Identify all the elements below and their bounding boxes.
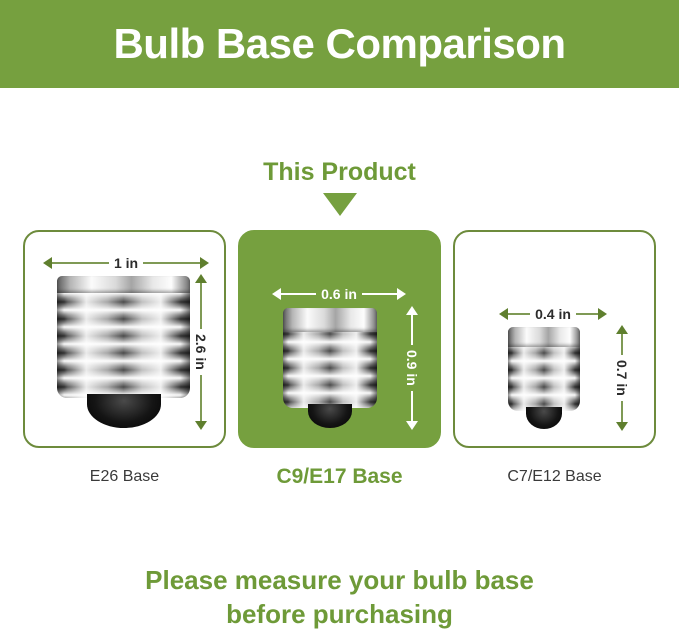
caption-e26: E26 Base — [23, 465, 226, 497]
dimension-line — [411, 391, 413, 421]
arrow-right-icon — [200, 257, 209, 269]
page-title: Bulb Base Comparison — [113, 23, 565, 65]
width-dimension-c7-e12: 0.4 in — [499, 305, 607, 323]
dimension-line — [508, 313, 530, 315]
arrow-right-icon — [397, 288, 406, 300]
dimension-line — [52, 262, 109, 264]
dimension-line — [200, 283, 202, 329]
width-dimension-e26: 1 in — [43, 254, 209, 272]
height-dimension-e26: 2.6 in — [192, 274, 210, 430]
height-dimension-c9-e17: 0.9 in — [403, 306, 421, 430]
bulb-card-c7-e12[interactable]: 0.4 in 0.7 in — [453, 230, 656, 448]
dimension-line — [621, 401, 623, 422]
header-banner: Bulb Base Comparison — [0, 0, 679, 88]
dimension-line — [621, 334, 623, 355]
width-label: 0.4 in — [530, 307, 576, 321]
bulb-base-e26-icon — [57, 276, 190, 426]
triangle-down-icon — [323, 193, 357, 216]
bulb-card-c9-e17[interactable]: 0.6 in 0.9 in — [238, 230, 441, 448]
arrow-down-icon — [195, 421, 207, 430]
footer-note: Please measure your bulb base before pur… — [0, 563, 679, 631]
dimension-line — [281, 293, 316, 295]
arrow-left-icon — [272, 288, 281, 300]
arrow-right-icon — [598, 308, 607, 320]
width-label: 0.6 in — [316, 287, 362, 301]
dimension-line — [200, 375, 202, 421]
arrow-up-icon — [406, 306, 418, 315]
arrow-up-icon — [616, 325, 628, 334]
height-label: 0.9 in — [405, 345, 419, 391]
width-label: 1 in — [109, 256, 143, 270]
arrow-left-icon — [43, 257, 52, 269]
this-product-callout: This Product — [0, 160, 679, 216]
dimension-line — [143, 262, 200, 264]
bulb-base-c7-e12-icon — [508, 327, 580, 427]
caption-c9-e17: C9/E17 Base — [238, 465, 441, 497]
height-label: 2.6 in — [194, 329, 208, 375]
arrow-up-icon — [195, 274, 207, 283]
arrow-down-icon — [406, 421, 418, 430]
bulb-card-e26[interactable]: 1 in 2.6 in — [23, 230, 226, 448]
arrow-down-icon — [616, 422, 628, 431]
bulb-base-c9-e17-icon — [283, 308, 377, 426]
width-dimension-c9-e17: 0.6 in — [272, 285, 406, 303]
dimension-line — [362, 293, 397, 295]
height-label: 0.7 in — [615, 355, 629, 401]
height-dimension-c7-e12: 0.7 in — [613, 325, 631, 431]
arrow-left-icon — [499, 308, 508, 320]
dimension-line — [411, 315, 413, 345]
this-product-label: This Product — [0, 160, 679, 185]
bulb-comparison-card-row: 1 in 2.6 in 0.6 in — [23, 230, 657, 448]
bulb-caption-row: E26 Base C9/E17 Base C7/E12 Base — [23, 465, 657, 497]
dimension-line — [576, 313, 598, 315]
footer-note-line-2: before purchasing — [0, 597, 679, 631]
caption-c7-e12: C7/E12 Base — [453, 465, 656, 497]
footer-note-line-1: Please measure your bulb base — [145, 565, 534, 595]
